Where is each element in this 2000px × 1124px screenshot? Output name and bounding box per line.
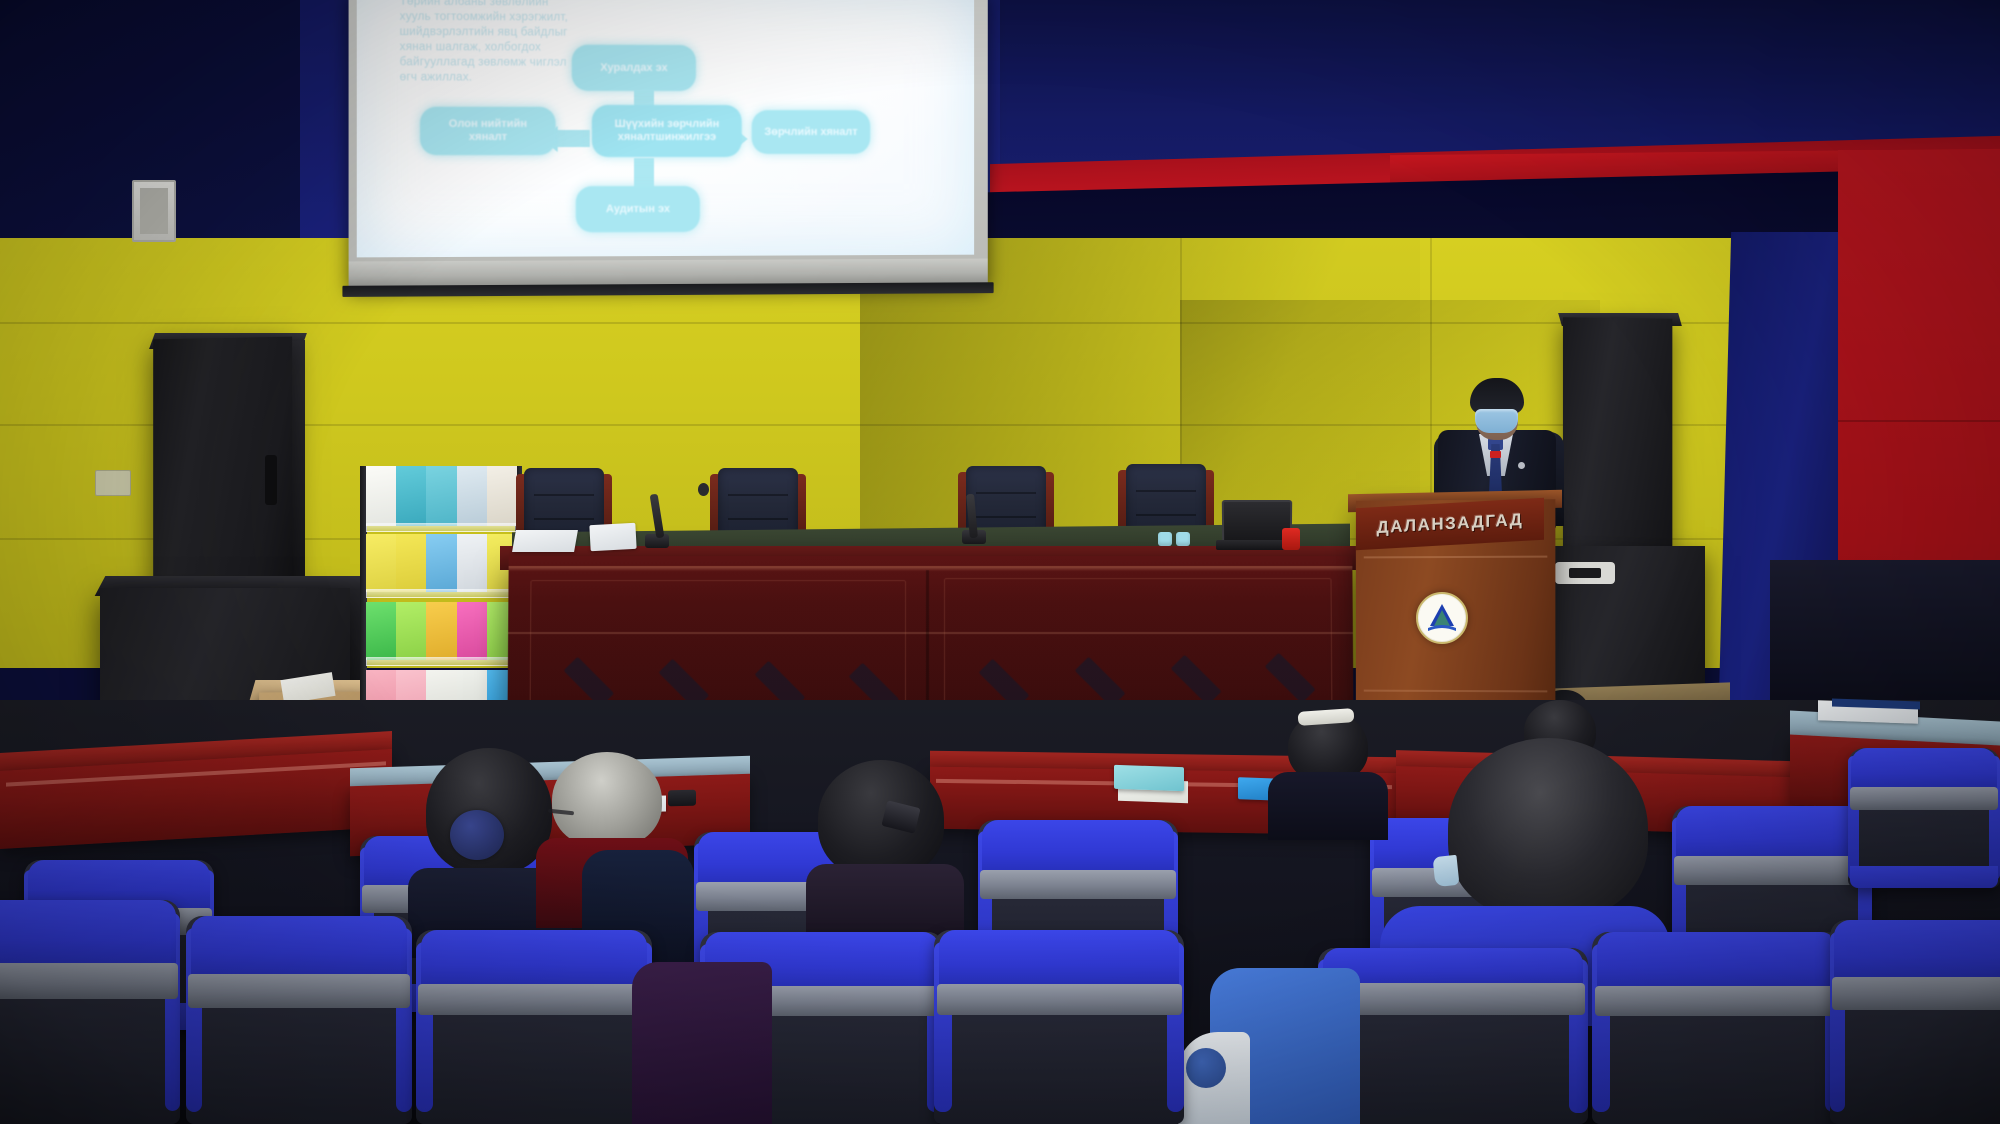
leaflet: [396, 602, 426, 660]
diagram-node-top: Хуралдах эх: [572, 45, 696, 91]
leaflet: [457, 466, 487, 526]
pa-speaker-left-port: [265, 455, 277, 505]
connector-left: [556, 130, 590, 147]
diagram-node-right: Зөрчлийн хяналт: [752, 110, 871, 154]
projector-screen-surface: Төрийн албаны зөвлөлийн хууль тогтоомжий…: [357, 0, 974, 257]
rack-shelf-2[interactable]: [366, 534, 517, 598]
upper-blue-wall-right: [1640, 0, 2000, 160]
leaflet: [426, 602, 456, 660]
leaflet: [457, 602, 487, 660]
leaflet: [366, 466, 396, 526]
podium-sign-text: ДАЛАНЗАДГАД: [1377, 510, 1524, 538]
microphone-head-1: [698, 483, 709, 496]
leaflet: [366, 534, 396, 592]
rack-shelf-1-leaflets: [366, 466, 517, 526]
rack-shelf-2-lip: [366, 589, 517, 598]
water-cup-1: [1158, 532, 1172, 546]
right-corner-shadow: [1770, 560, 2000, 720]
diagram-node-bottom: Аудитын эх: [576, 186, 700, 232]
leaflet: [396, 466, 426, 526]
podium-line-2: [1364, 690, 1548, 693]
leaflet: [457, 534, 487, 592]
wall-mounted-box: [132, 180, 176, 242]
blue-scrunchie: [450, 810, 504, 860]
slide-line-2: хууль тогтоомжийн хэрэгжилт,: [400, 10, 722, 27]
red-cup: [1282, 528, 1300, 550]
pa-speaker-right: [1563, 317, 1672, 550]
rack-shelf-1[interactable]: [366, 466, 517, 532]
presenter-head: [1470, 378, 1524, 440]
seat[interactable]: [934, 930, 1184, 1124]
seat[interactable]: [0, 900, 180, 1124]
rack-shelf-3-lip: [366, 657, 517, 666]
mobile-phone[interactable]: [668, 790, 696, 807]
rack-shelf-1-lip: [366, 523, 517, 532]
face-mask-icon: [1432, 855, 1459, 887]
projector-screen: Төрийн албаны зөвлөлийн хууль тогтоомжий…: [349, 0, 988, 288]
water-cup-2: [1176, 532, 1190, 546]
rack-shelf-3-leaflets: [366, 602, 517, 660]
paper-stack: [512, 530, 578, 552]
paper-crumpled: [589, 523, 636, 551]
face-mask-icon: [1475, 409, 1518, 433]
leaflet: [396, 534, 426, 592]
seat[interactable]: [1592, 932, 1842, 1124]
teal-booklet: [1114, 765, 1184, 791]
seat[interactable]: [186, 916, 412, 1124]
right-red-wall-seam: [1838, 420, 2000, 422]
conference-hall-scene: Төрийн албаны зөвлөлийн хууль тогтоомжий…: [0, 0, 2000, 1124]
rack-shelf-3[interactable]: [366, 602, 517, 666]
attendee-purple-sleeve: [632, 962, 772, 1124]
leaflet: [426, 534, 456, 592]
seat[interactable]: [416, 930, 652, 1124]
bag-logo-icon: [1186, 1048, 1226, 1088]
podium-line-1: [1364, 556, 1548, 559]
diagram-node-center: Шүүхийн зөрчлийн хяналтшинжилгээ: [592, 105, 742, 157]
slide-line-3: шийдвэрлэлтийн явц байдлыг: [400, 25, 722, 41]
subwoofer-right-handle: [1555, 562, 1615, 584]
seat[interactable]: [1848, 748, 2000, 888]
mountain-emblem-icon: [1416, 592, 1468, 644]
attendee-woman-headband-shoulders: [1268, 772, 1388, 840]
leaflet: [366, 602, 396, 660]
presidium-panel-right: [944, 578, 1333, 720]
attendee-woman-bun-head: [818, 760, 944, 878]
presenter-badge: [1518, 462, 1525, 469]
seat[interactable]: [1830, 920, 2000, 1124]
leaflet: [426, 466, 456, 526]
attendee-man-gray-head: [552, 752, 662, 848]
attendee-woman-ponytail-head: [426, 748, 552, 874]
diagram-node-left: Олон нийтийн хяналт: [420, 107, 556, 155]
presidium-rail: [509, 566, 1353, 571]
wall-plate: [95, 470, 131, 496]
presenter-lapel-pin: [1490, 451, 1501, 458]
attendee-man-front-head: [1448, 738, 1648, 920]
leaflet: [487, 466, 517, 526]
brochure-rack[interactable]: [360, 466, 522, 734]
rack-shelf-2-leaflets: [366, 534, 517, 592]
